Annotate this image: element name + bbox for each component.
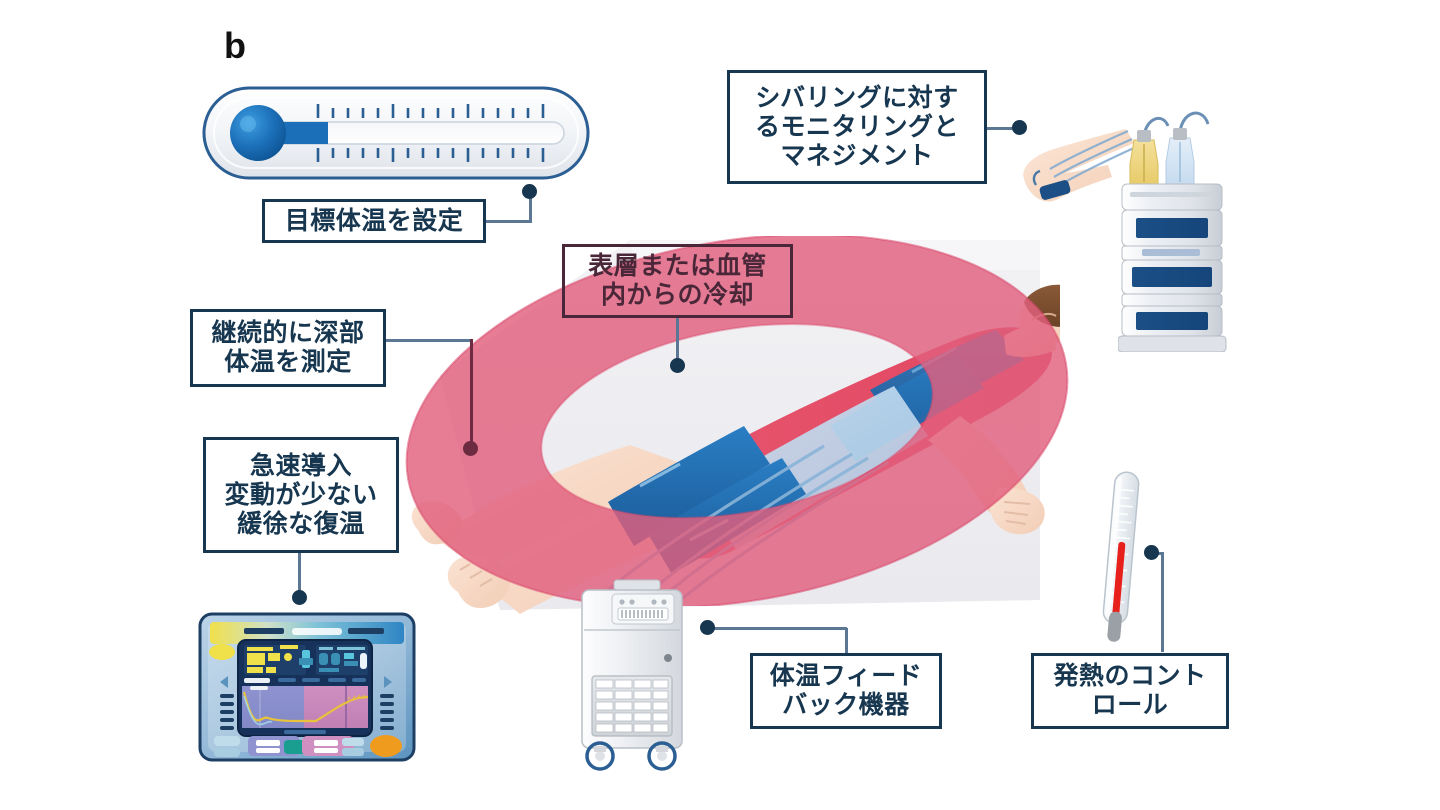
- connector-feedback-v: [845, 628, 848, 656]
- connector-feedback-h: [712, 627, 847, 630]
- callout-continuous-core-temperature[interactable]: 継続的に深部 体温を測定: [190, 309, 386, 387]
- connector-fever-v: [1161, 552, 1164, 652]
- callout-line: 内からの冷却: [601, 281, 754, 310]
- callout-line: 発熱のコント: [1053, 662, 1206, 691]
- callout-line: マネジメント: [780, 142, 933, 171]
- callout-shivering-monitoring[interactable]: シバリングに対す るモニタリングと マネジメント: [727, 70, 987, 184]
- callout-line: 緩徐な復温: [237, 510, 365, 539]
- horizontal-thermometer-icon: [200, 84, 592, 182]
- callout-surface-or-intravascular-cooling[interactable]: 表層または血管 内からの冷却: [562, 244, 793, 318]
- callout-line: シバリングに対す: [755, 84, 958, 113]
- connector-dot-cooling: [670, 358, 685, 373]
- callout-line: るモニタリングと: [755, 113, 959, 142]
- callout-line: 体温フィード: [770, 662, 923, 691]
- connector-dot-feedback: [700, 620, 715, 635]
- connector-core-temp-v: [470, 339, 473, 443]
- panel-letter: b: [224, 28, 246, 64]
- callout-line: バック機器: [782, 691, 910, 720]
- infusion-pump-tower-icon: [1118, 92, 1230, 352]
- cooling-machine-cart-icon: [568, 578, 696, 774]
- callout-rapid-induction-slow-rewarming[interactable]: 急速導入 変動が少ない 緩徐な復温: [203, 437, 399, 553]
- callout-line: 変動が少ない: [224, 481, 377, 510]
- connector-core-temp-h: [384, 339, 473, 342]
- control-console-monitor-icon: [198, 600, 416, 762]
- clinical-thermometer-icon: [1098, 468, 1144, 652]
- connector-dot-shivering: [1012, 120, 1027, 135]
- callout-line: 目標体温を設定: [285, 207, 464, 236]
- callout-line: 急速導入: [250, 452, 352, 481]
- connector-dot-set-target-temperature: [522, 184, 537, 199]
- connector-cooling-v: [676, 316, 679, 364]
- connector-dot-fever: [1144, 545, 1159, 560]
- callout-line: ロール: [1092, 691, 1169, 720]
- callout-line: 表層または血管: [588, 252, 767, 281]
- figure-canvas: b: [0, 0, 1440, 810]
- callout-line: 継続的に深部: [211, 319, 364, 348]
- callout-line: 体温を測定: [224, 348, 352, 377]
- connector-dot-rapid-induction: [292, 590, 307, 605]
- callout-temperature-feedback-device[interactable]: 体温フィード バック機器: [750, 653, 942, 729]
- connector-dot-core-temp: [463, 441, 478, 456]
- connector-set-target-temperature-h: [486, 220, 532, 223]
- callout-set-target-temperature[interactable]: 目標体温を設定: [262, 199, 486, 243]
- callout-fever-control[interactable]: 発熱のコント ロール: [1031, 653, 1229, 729]
